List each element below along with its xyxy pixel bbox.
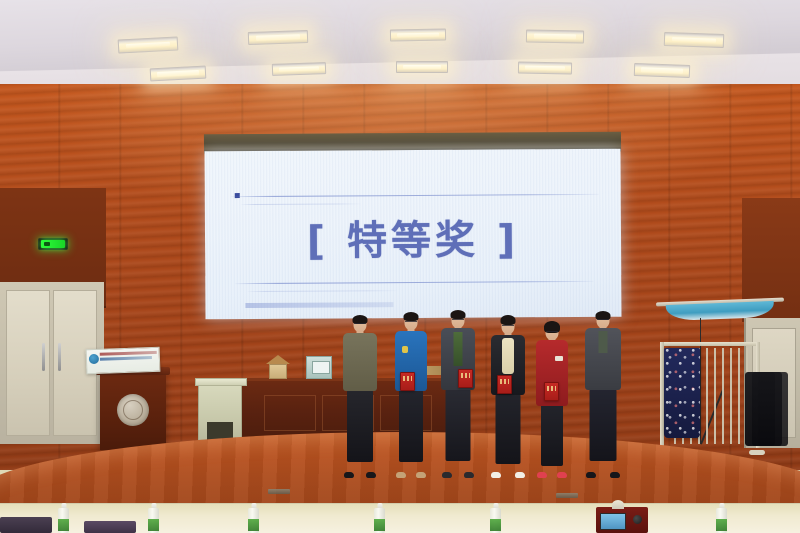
shoe [557,472,567,478]
water-bottle[interactable] [374,503,385,533]
ceiling-light [390,29,446,42]
inner-shirt [454,332,463,366]
glasses-icon [597,319,609,322]
inner-shirt [599,331,608,353]
person-awardee-1 [394,314,428,476]
shoe [515,472,525,478]
person-awardee-4 [535,324,569,476]
stage-floor-vent [556,493,578,498]
coat-badge [555,356,563,361]
shoe [396,472,406,478]
glasses-icon [502,325,514,328]
shoe [464,472,474,478]
shoe [416,472,426,478]
shoe [344,472,354,478]
glasses-icon [452,319,464,322]
hair [404,312,419,321]
trousers [496,394,521,464]
trousers [446,389,471,461]
ceiling-light [664,32,724,48]
shoe [366,472,376,478]
camera-lcd-screen [600,513,626,530]
award-certificate [458,369,473,388]
water-bottle[interactable] [248,503,259,533]
water-bottle[interactable] [490,503,501,533]
water-bottle[interactable] [716,503,727,533]
person-presenter-left [342,316,378,476]
camera-dial-icon [633,515,642,524]
ceiling-light [248,30,308,45]
ceiling-light [272,62,326,76]
camera-top-dome [612,500,624,509]
ceiling-light [634,63,690,78]
trousers [590,389,617,461]
award-certificate [400,372,415,391]
shoe [442,472,452,478]
people-group [0,0,800,533]
jacket [343,333,377,391]
award-certificate [497,375,512,394]
award-certificate [544,382,559,401]
glasses-icon [405,321,417,324]
auditorium-scene: EXIT [ 特等奖 ] [0,0,800,533]
trousers [541,404,563,466]
person-presenter-right [584,312,622,476]
digital-camera[interactable] [596,507,648,533]
water-bottle[interactable] [148,503,159,533]
glasses-icon [354,323,366,326]
stage-floor-vent [268,489,290,494]
person-awardee-2 [440,312,476,476]
shoe [586,472,596,478]
desk-object-dark [0,517,52,533]
shoe [610,472,620,478]
shoe [537,472,547,478]
water-bottle[interactable] [58,503,69,533]
hair [451,310,466,319]
ceiling-light [518,62,572,75]
ceiling-light [396,61,448,73]
inner-sweater [502,338,514,374]
person-awardee-3 [490,318,526,476]
trousers [399,390,423,462]
shoe [491,472,501,478]
ceiling-light [526,29,584,43]
desk-object-purple [84,521,136,533]
jacket-emblem [402,346,408,353]
glasses-icon [546,331,558,334]
hair [501,315,516,325]
trousers [347,390,373,462]
